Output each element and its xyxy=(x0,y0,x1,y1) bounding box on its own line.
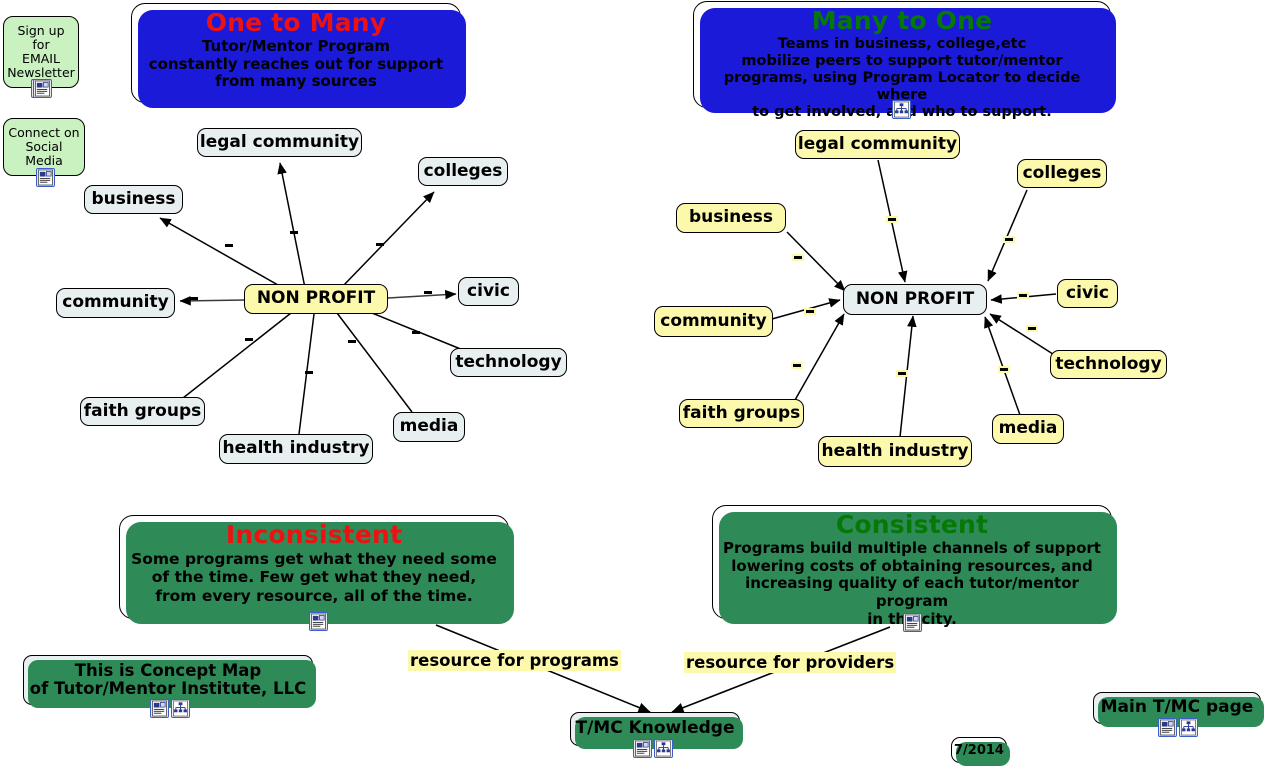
hierarchy-map-icon[interactable] xyxy=(1179,718,1198,737)
right-node-faith-groups[interactable]: faith groups xyxy=(679,399,804,428)
left-node-civic[interactable]: civic xyxy=(458,277,519,306)
icons-concept-map-credit xyxy=(150,699,190,718)
right-node-colleges[interactable]: colleges xyxy=(1017,159,1107,188)
link-marker xyxy=(793,364,801,367)
note-document-icon[interactable] xyxy=(633,739,652,758)
panel-title: Inconsistent xyxy=(130,520,498,549)
hierarchy-map-icon[interactable] xyxy=(892,100,911,119)
icons-main-tmc-page xyxy=(1158,718,1198,737)
link-marker xyxy=(245,338,253,341)
right-node-technology[interactable]: technology xyxy=(1050,350,1167,379)
link-marker xyxy=(376,243,384,246)
link-marker xyxy=(348,340,356,343)
left-node-business[interactable]: business xyxy=(84,185,183,214)
panel-body: Some programs get what they need some of… xyxy=(130,550,498,605)
note-document-icon[interactable] xyxy=(36,168,55,187)
panel-many-to-one: Many to One Teams in business, college,e… xyxy=(693,1,1111,108)
panel-inconsistent: Inconsistent Some programs get what they… xyxy=(119,515,509,619)
panel-consistent: Consistent Programs build multiple chann… xyxy=(712,505,1112,619)
right-node-civic[interactable]: civic xyxy=(1057,279,1118,308)
relation-label-resource-for-programs: resource for programs xyxy=(408,650,621,671)
link-marker xyxy=(888,218,896,221)
left-node-faith-groups[interactable]: faith groups xyxy=(80,397,205,426)
panel-body: Tutor/Mentor Program constantly reaches … xyxy=(142,38,450,91)
panel-one-to-many: One to Many Tutor/Mentor Program constan… xyxy=(131,3,461,103)
note-document-icon[interactable] xyxy=(1158,718,1177,737)
icons-tmc-knowledge xyxy=(633,739,673,758)
link-marker xyxy=(412,331,420,334)
link-marker xyxy=(1000,368,1008,371)
link-marker xyxy=(424,291,432,294)
icons-inconsistent xyxy=(309,612,328,631)
link-marker xyxy=(290,231,298,234)
link-marker xyxy=(190,297,198,300)
right-node-business[interactable]: business xyxy=(676,203,786,233)
icons-many-to-one xyxy=(892,100,911,119)
concept-map-credit-box[interactable]: This is Concept Map of Tutor/Mentor Inst… xyxy=(23,655,313,705)
left-node-media[interactable]: media xyxy=(393,412,465,442)
link-marker xyxy=(225,244,233,247)
link-marker xyxy=(1019,294,1027,297)
panel-title: Many to One xyxy=(704,6,1100,35)
relation-label-resource-for-providers: resource for providers xyxy=(684,652,896,673)
concept-map-canvas: One to Many Tutor/Mentor Program constan… xyxy=(0,0,1265,769)
right-node-legal-community[interactable]: legal community xyxy=(795,130,960,159)
signup-email-newsletter-box[interactable]: Sign up for EMAIL Newsletter xyxy=(3,16,79,88)
right-node-media[interactable]: media xyxy=(992,414,1064,444)
left-node-health-industry[interactable]: health industry xyxy=(219,434,373,464)
link-marker xyxy=(1028,327,1036,330)
left-node-center-non-profit[interactable]: NON PROFIT xyxy=(244,284,388,314)
left-node-legal-community[interactable]: legal community xyxy=(197,128,362,157)
note-document-icon[interactable] xyxy=(150,699,169,718)
left-node-colleges[interactable]: colleges xyxy=(418,157,508,186)
panel-title: One to Many xyxy=(142,8,450,37)
panel-title: Consistent xyxy=(723,510,1101,539)
date-stamp: 7/2014 xyxy=(951,737,1007,763)
note-document-icon[interactable] xyxy=(309,612,328,631)
note-document-icon[interactable] xyxy=(903,613,922,632)
link-marker xyxy=(1005,238,1013,241)
right-node-health-industry[interactable]: health industry xyxy=(818,436,972,467)
right-node-center-non-profit[interactable]: NON PROFIT xyxy=(843,284,987,315)
link-marker xyxy=(806,310,814,313)
left-node-community[interactable]: community xyxy=(56,288,175,318)
icons-consistent xyxy=(903,613,922,632)
link-marker xyxy=(794,256,802,259)
right-node-community[interactable]: community xyxy=(654,306,773,337)
link-marker xyxy=(898,372,906,375)
note-document-icon[interactable] xyxy=(33,79,52,98)
icons-social-media xyxy=(36,168,55,187)
hierarchy-map-icon[interactable] xyxy=(654,739,673,758)
link-marker xyxy=(305,371,313,374)
icons-email-newsletter xyxy=(33,79,52,98)
hierarchy-map-icon[interactable] xyxy=(171,699,190,718)
left-node-technology[interactable]: technology xyxy=(450,348,567,377)
